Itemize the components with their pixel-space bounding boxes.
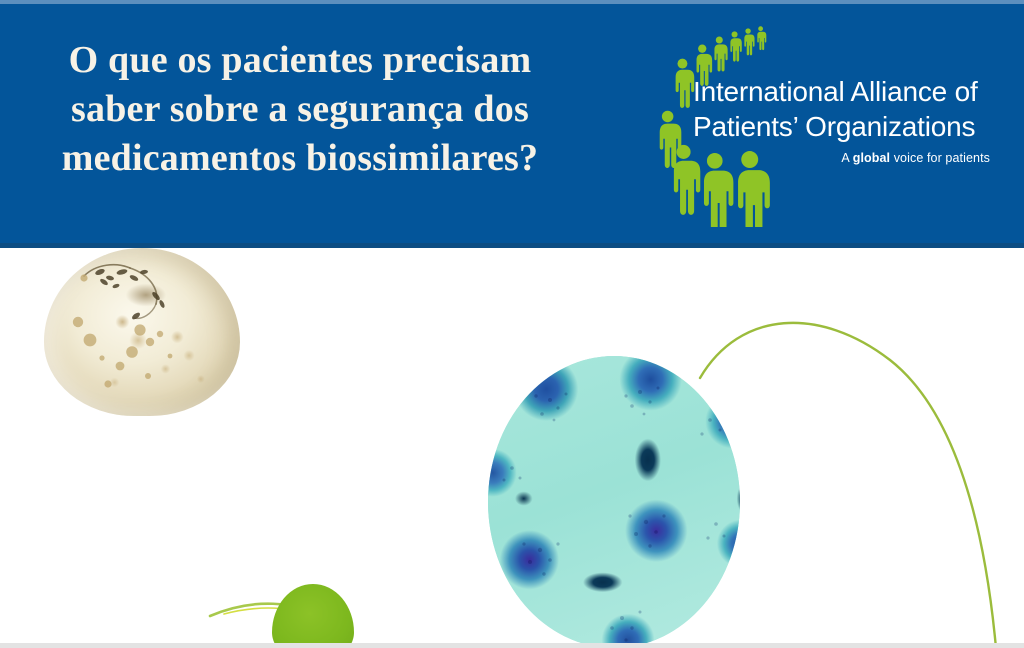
- logo-tagline-prefix: A: [841, 151, 852, 165]
- slide-canvas: O que os pacientes precisam saber sobre …: [0, 0, 1024, 648]
- title-line-3: medicamentos biossimilares?: [0, 134, 600, 183]
- micrograph-speckle-icon: [488, 356, 740, 648]
- footer-strip: [0, 643, 1024, 648]
- iapo-logo: International Alliance of Patients’ Orga…: [645, 22, 990, 227]
- title-line-1: O que os pacientes precisam: [0, 36, 600, 85]
- cell-micrograph-image: [488, 356, 740, 648]
- logo-tagline: A global voice for patients: [693, 151, 990, 165]
- header-banner: O que os pacientes precisam saber sobre …: [0, 0, 1024, 248]
- petri-dish-image: [44, 248, 240, 416]
- petri-colonies-icon: [44, 248, 240, 416]
- logo-tagline-suffix: voice for patients: [890, 151, 990, 165]
- title-line-2: saber sobre a segurança dos: [0, 85, 600, 134]
- logo-tagline-bold: global: [853, 151, 890, 165]
- logo-line-2: Patients’ Organizations: [693, 109, 993, 144]
- page-title: O que os pacientes precisam saber sobre …: [0, 36, 600, 183]
- logo-line-1: International Alliance of: [693, 74, 993, 109]
- header-top-edge: [0, 0, 1024, 4]
- logo-text-block: International Alliance of Patients’ Orga…: [693, 74, 993, 165]
